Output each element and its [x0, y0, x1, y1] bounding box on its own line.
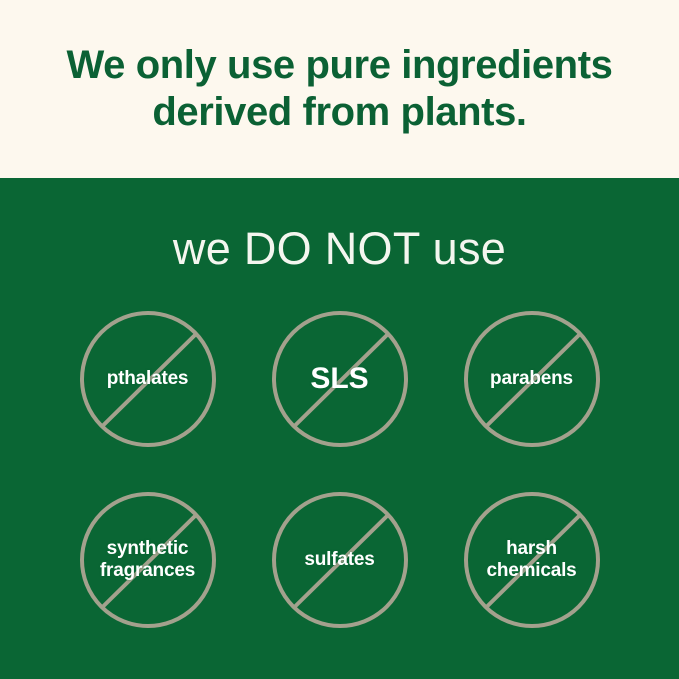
badge-synthetic-fragrances: synthetic fragrances [79, 491, 217, 629]
badge-label: sulfates [304, 549, 374, 571]
badge-label: harsh chemicals [486, 538, 576, 582]
badge-pthalates: pthalates [79, 310, 217, 448]
badge-harsh-chemicals: harsh chemicals [463, 491, 601, 629]
section-heading: we DO NOT use [0, 222, 679, 276]
badge-sls: SLS [271, 310, 409, 448]
badge-label: pthalates [107, 368, 189, 390]
excluded-ingredients-grid: pthalates SLS parabens [0, 310, 679, 629]
badge-sulfates: sulfates [271, 491, 409, 629]
headline-band: We only use pure ingredients derived fro… [0, 0, 679, 178]
badge-row: pthalates SLS parabens [0, 310, 679, 448]
badge-parabens: parabens [463, 310, 601, 448]
headline-line-1: We only use pure ingredients [67, 42, 613, 89]
badge-row: synthetic fragrances sulfates harsh chem… [0, 491, 679, 629]
badge-label: SLS [310, 362, 368, 396]
badge-label: synthetic fragrances [100, 538, 195, 582]
ingredient-claims-poster: We only use pure ingredients derived fro… [0, 0, 679, 679]
badge-label: parabens [490, 368, 573, 390]
headline-line-2: derived from plants. [152, 89, 526, 136]
